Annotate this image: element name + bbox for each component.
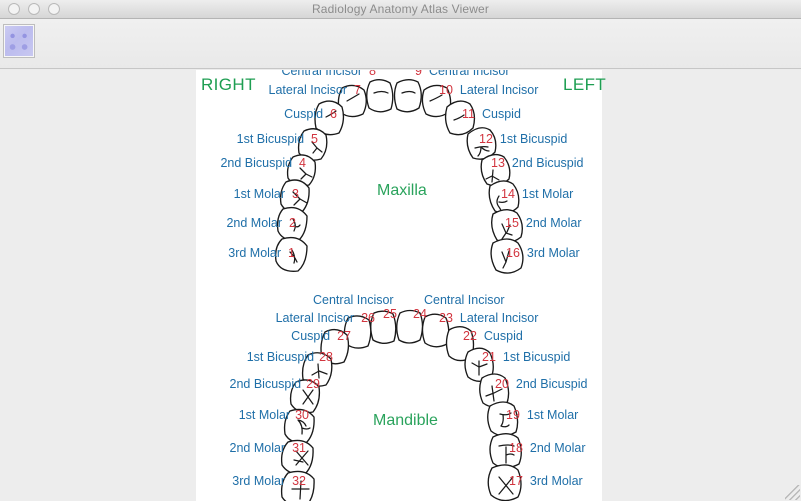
image-canvas[interactable]: Universal National Numbering System RIGH… xyxy=(196,70,602,501)
zoom-button[interactable] xyxy=(48,3,60,15)
label-tooth-2: 2nd Molar 2 xyxy=(226,216,296,230)
label-tooth-1: 3rd Molar 1 xyxy=(228,246,295,260)
label-tooth-8: Central Incisor 8 xyxy=(281,70,376,78)
label-tooth-30: 1st Molar 30 xyxy=(239,408,309,422)
tooth-9 xyxy=(395,80,422,112)
resize-grip[interactable] xyxy=(785,485,800,500)
close-button[interactable] xyxy=(8,3,20,15)
label-tooth-9: 9 Central Incisor xyxy=(415,70,510,78)
tooth-8 xyxy=(367,80,393,112)
dental-chart: Universal National Numbering System RIGH… xyxy=(196,70,602,501)
label-tooth-21: 21 1st Bicuspid xyxy=(482,350,570,364)
label-tooth-11: 11 Cuspid xyxy=(462,107,521,121)
label-tooth-28: 1st Bicuspid 28 xyxy=(247,350,333,364)
label-tooth-14: 14 1st Molar xyxy=(501,187,573,201)
label-tooth-4: 2nd Bicuspid 4 xyxy=(220,156,306,170)
content-area: Universal National Numbering System RIGH… xyxy=(0,70,801,501)
label-tooth-19: 19 1st Molar xyxy=(506,408,578,422)
label-tooth-17: 17 3rd Molar xyxy=(509,474,583,488)
label-tooth-18: 18 2nd Molar xyxy=(509,441,586,455)
label-tooth-13: 13 2nd Bicuspid xyxy=(491,156,583,170)
minimize-button[interactable] xyxy=(28,3,40,15)
label-tooth-25-name: Central Incisor xyxy=(313,294,394,307)
label-tooth-10: 10 Lateral Incisor xyxy=(439,83,538,97)
label-tooth-26: Lateral Incisor 26 xyxy=(276,311,375,325)
thumbnail-preview-button[interactable] xyxy=(3,24,35,58)
label-tooth-20: 20 2nd Bicuspid xyxy=(495,377,587,391)
label-tooth-24-name: Central Incisor xyxy=(424,294,505,307)
label-tooth-12: 12 1st Bicuspid xyxy=(479,132,567,146)
toolbar xyxy=(0,19,801,69)
label-tooth-16: 16 3rd Molar xyxy=(506,246,580,260)
thumbnail-image-icon xyxy=(5,26,33,56)
label-tooth-31: 2nd Molar 31 xyxy=(230,441,307,455)
label-tooth-3: 1st Molar 3 xyxy=(234,187,299,201)
label-tooth-5: 1st Bicuspid 5 xyxy=(237,132,318,146)
label-tooth-22: 22 Cuspid xyxy=(463,329,523,343)
window-controls xyxy=(8,3,60,15)
title-bar[interactable]: Radiology Anatomy Atlas Viewer xyxy=(0,0,801,19)
label-tooth-32: 3rd Molar 32 xyxy=(232,474,306,488)
label-tooth-6: Cuspid 6 xyxy=(284,107,337,121)
label-tooth-25-number: 25 xyxy=(383,308,397,321)
label-tooth-7: Lateral Incisor 7 xyxy=(269,83,361,97)
label-tooth-27: Cuspid 27 xyxy=(291,329,351,343)
label-tooth-29: 2nd Bicuspid 29 xyxy=(230,377,320,391)
label-tooth-23: 23 Lateral Incisor xyxy=(439,311,538,325)
window-title: Radiology Anatomy Atlas Viewer xyxy=(0,0,801,19)
label-tooth-15: 15 2nd Molar xyxy=(505,216,582,230)
app-window: Radiology Anatomy Atlas Viewer Universal… xyxy=(0,0,801,501)
label-tooth-24-number: 24 xyxy=(413,308,427,321)
